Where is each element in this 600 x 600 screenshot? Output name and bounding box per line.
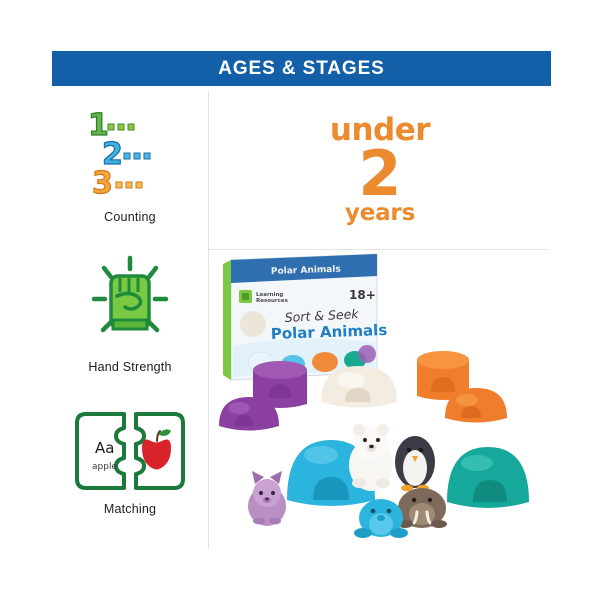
igloo-teal: [447, 447, 529, 508]
puzzle-match-icon: Aa apple: [52, 404, 208, 496]
svg-text:Resources: Resources: [256, 298, 289, 304]
features-column: 1 2 3 Counting: [52, 92, 208, 548]
feature-label-hand-strength: Hand Strength: [52, 360, 208, 374]
right-column: under 2 years Polar Animals Learning Res…: [209, 92, 551, 548]
fist-squeeze-icon: [52, 250, 208, 354]
match-card-letter: Aa: [95, 439, 114, 457]
product-photo: Polar Animals Learning Resources 18+ Sor…: [209, 250, 551, 548]
feature-counting: 1 2 3 Counting: [52, 100, 208, 224]
animal-penguin: [395, 436, 435, 491]
feature-matching: Aa apple Matching: [52, 404, 208, 516]
feature-label-counting: Counting: [52, 210, 208, 224]
ages-and-stages-banner: AGES & STAGES: [52, 51, 551, 86]
animal-walrus: [397, 488, 447, 528]
product-box: Polar Animals Learning Resources 18+ Sor…: [223, 254, 388, 380]
banner-title: AGES & STAGES: [218, 58, 385, 80]
animal-arctic-fox: [248, 471, 286, 526]
feature-hand-strength: Hand Strength: [52, 250, 208, 374]
igloo-orange: [417, 351, 507, 423]
animal-polar-bear: [349, 424, 393, 491]
svg-text:18+: 18+: [349, 288, 376, 302]
age-recommendation: under 2 years: [209, 92, 551, 249]
feature-label-matching: Matching: [52, 502, 208, 516]
numbers-123-icon: 1 2 3: [52, 100, 208, 204]
age-suffix: years: [345, 202, 415, 225]
age-value: 2: [358, 145, 401, 202]
svg-text:3: 3: [92, 166, 113, 201]
match-card-word: apple: [92, 462, 117, 472]
